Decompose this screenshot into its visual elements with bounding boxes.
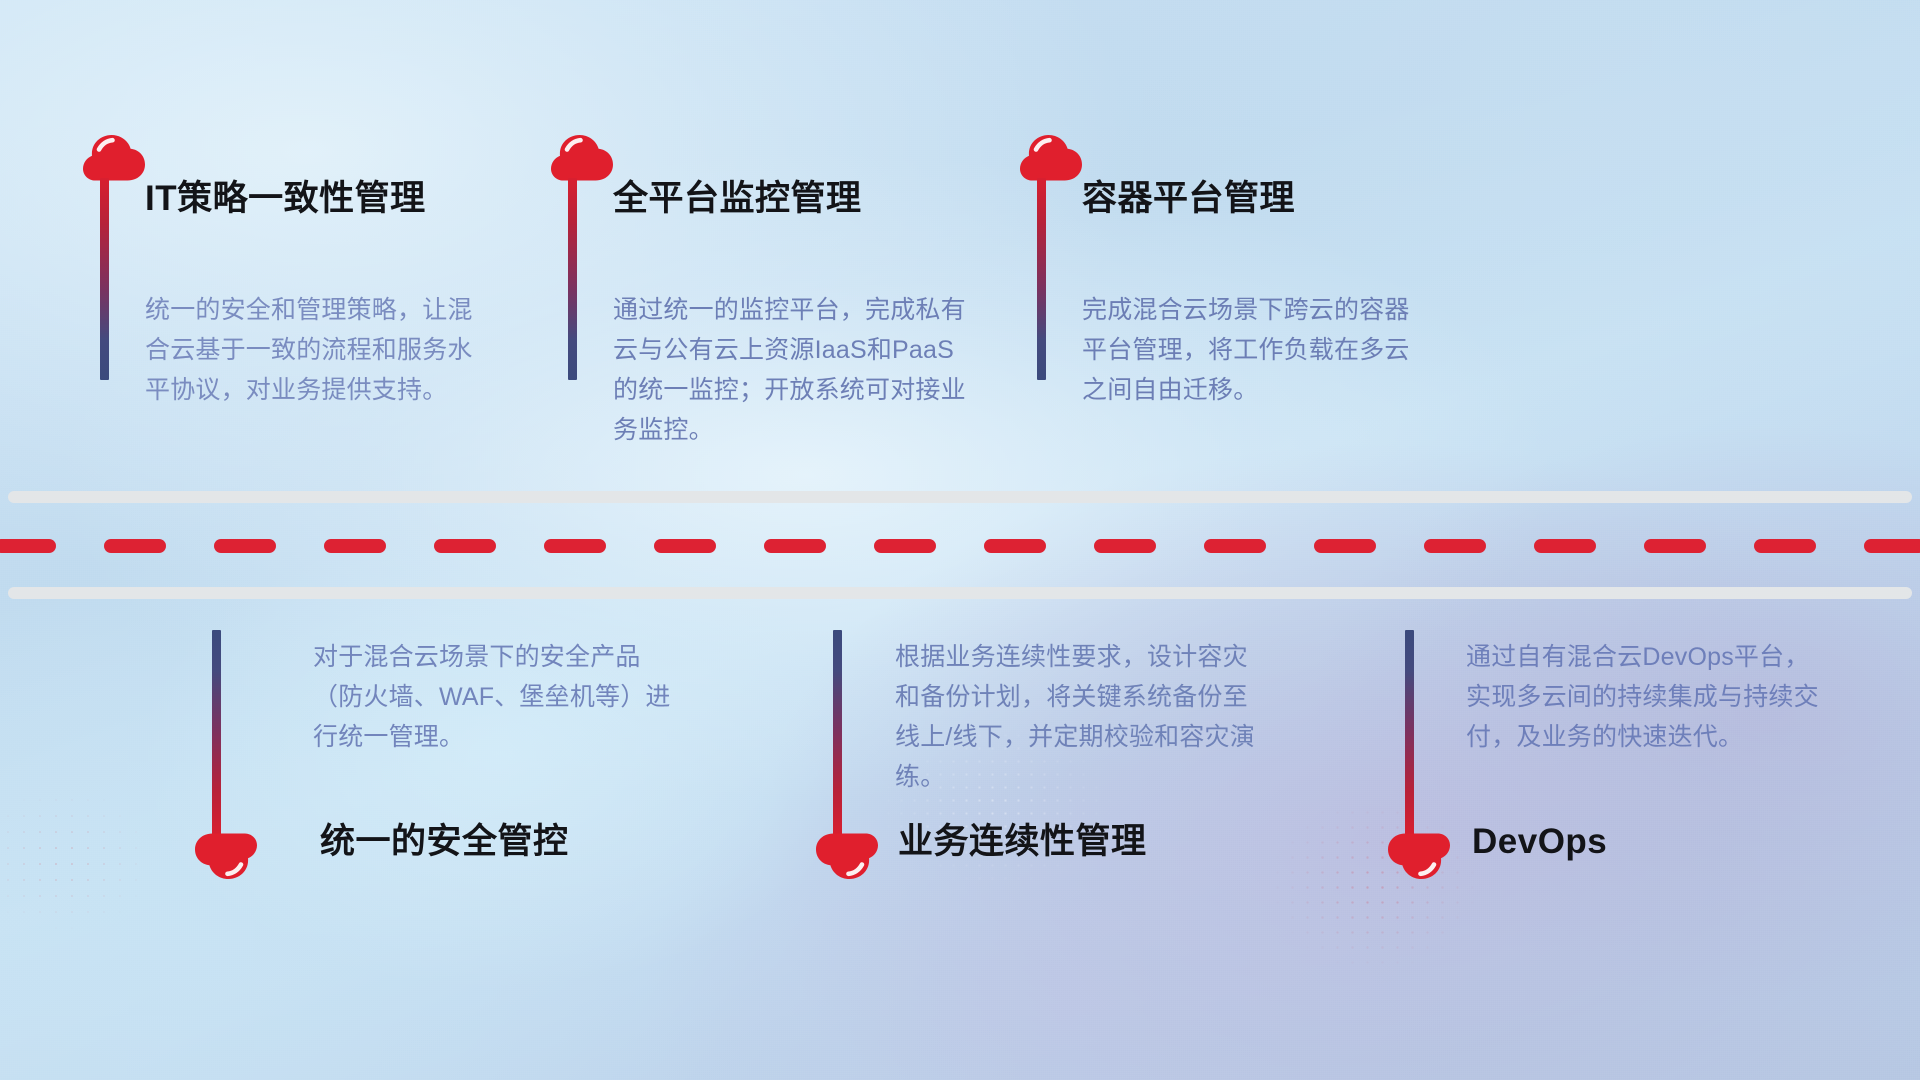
item-description: 通过统一的监控平台，完成私有云与公有云上资源IaaS和PaaS的统一监控；开放系… [613, 290, 975, 450]
timeline-stem [1405, 630, 1414, 835]
road-dash [984, 539, 1046, 553]
timeline-stem [568, 178, 577, 380]
road-dash [1864, 539, 1920, 553]
road-dash [764, 539, 826, 553]
infographic-canvas: IT策略一致性管理 统一的安全和管理策略，让混合云基于一致的流程和服务水平协议，… [0, 0, 1920, 1080]
road-dash [1424, 539, 1486, 553]
road-dash [1204, 539, 1266, 553]
item-description: 统一的安全和管理策略，让混合云基于一致的流程和服务水平协议，对业务提供支持。 [145, 290, 497, 410]
road-dash [654, 539, 716, 553]
road-dash [1644, 539, 1706, 553]
road-dash [0, 539, 56, 553]
timeline-stem [1037, 178, 1046, 380]
road-dash [434, 539, 496, 553]
road-dash [1094, 539, 1156, 553]
cloud-icon [195, 833, 257, 879]
road-dash [1314, 539, 1376, 553]
road-line-upper [8, 491, 1912, 503]
item-heading: 全平台监控管理 [613, 178, 862, 220]
cloud-icon [1388, 833, 1450, 879]
item-heading: DevOps [1472, 821, 1607, 863]
cloud-icon [816, 833, 878, 879]
cloud-icon [1020, 135, 1082, 181]
road-dash [324, 539, 386, 553]
road-dash [1534, 539, 1596, 553]
road-dash [874, 539, 936, 553]
road-dash [104, 539, 166, 553]
item-description: 根据业务连续性要求，设计容灾和备份计划，将关键系统备份至线上/线下，并定期校验和… [895, 637, 1255, 797]
item-description: 完成混合云场景下跨云的容器平台管理，将工作负载在多云之间自由迁移。 [1082, 290, 1434, 410]
item-heading: 业务连续性管理 [898, 821, 1147, 863]
timeline-stem [100, 178, 109, 380]
item-heading: IT策略一致性管理 [145, 178, 426, 220]
road-dash [544, 539, 606, 553]
road-line-lower [8, 587, 1912, 599]
item-heading: 容器平台管理 [1082, 178, 1295, 220]
cloud-icon [551, 135, 613, 181]
item-description: 对于混合云场景下的安全产品（防火墙、WAF、堡垒机等）进行统一管理。 [313, 637, 683, 757]
item-description: 通过自有混合云DevOps平台，实现多云间的持续集成与持续交付，及业务的快速迭代… [1466, 637, 1826, 757]
road-dash [1754, 539, 1816, 553]
cloud-icon [83, 135, 145, 181]
road-dash [214, 539, 276, 553]
timeline-stem [833, 630, 842, 835]
timeline-stem [212, 630, 221, 835]
road-dashed-center-line [0, 539, 1920, 553]
item-heading: 统一的安全管控 [320, 821, 569, 863]
